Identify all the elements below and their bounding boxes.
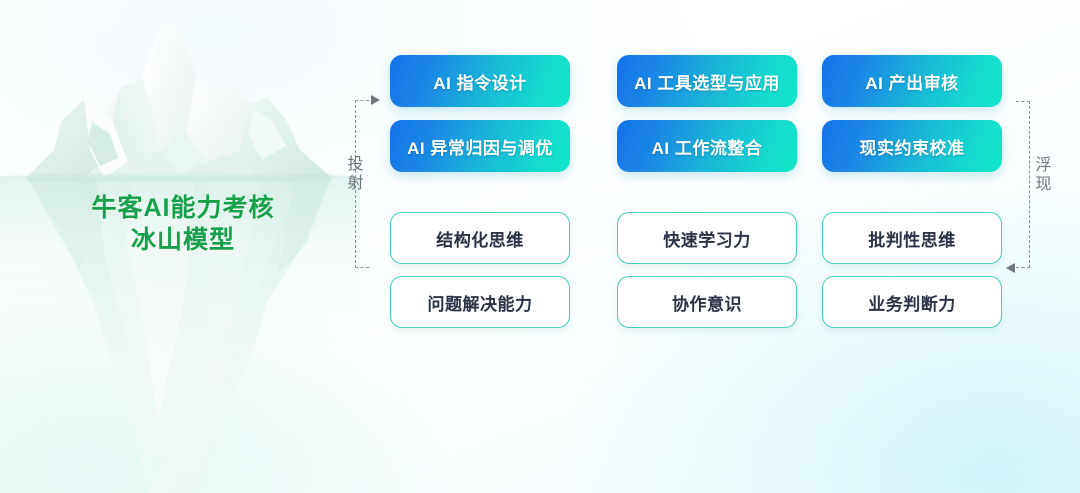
capability-card[interactable]: 问题解决能力 [390, 276, 570, 328]
iceberg-abovewater [26, 16, 332, 182]
capability-card-label: AI 工作流整合 [652, 134, 763, 159]
arrow-left-icon [1006, 263, 1015, 273]
page-title: 牛客AI能力考核 冰山模型 [44, 192, 322, 256]
arrow-right-icon [371, 95, 380, 105]
capability-card-label: 快速学习力 [663, 226, 751, 251]
capability-card-label: 批判性思维 [868, 226, 956, 251]
page-title-line2: 冰山模型 [44, 224, 322, 256]
capability-card[interactable]: 快速学习力 [617, 212, 797, 264]
bracket-right-vline [1029, 101, 1030, 268]
bracket-left-label: 投射 [346, 156, 366, 193]
bracket-right-top-stub [1016, 101, 1030, 102]
capability-card-label: AI 异常归因与调优 [407, 134, 553, 159]
capability-card-label: AI 产出审核 [865, 69, 958, 94]
capability-card[interactable]: 业务判断力 [822, 276, 1002, 328]
capability-card-label: 问题解决能力 [428, 290, 533, 315]
bracket-right-label: 浮现 [1034, 157, 1054, 194]
capability-card[interactable]: 批判性思维 [822, 212, 1002, 264]
capability-card-label: 现实约束校准 [860, 134, 965, 159]
bracket-left-top-stub [355, 100, 369, 101]
capability-card-label: AI 工具选型与应用 [634, 69, 780, 94]
capability-card-label: 结构化思维 [436, 226, 524, 251]
capability-card[interactable]: AI 工作流整合 [617, 120, 797, 172]
bracket-left-bottom-stub [355, 267, 369, 268]
page-title-line1: 牛客AI能力考核 [44, 192, 322, 224]
capability-card[interactable]: AI 异常归因与调优 [390, 120, 570, 172]
capability-card[interactable]: AI 产出审核 [822, 55, 1002, 107]
capability-card-label: 业务判断力 [868, 290, 956, 315]
capability-card[interactable]: AI 工具选型与应用 [617, 55, 797, 107]
slide-canvas: 牛客AI能力考核 冰山模型 投射 浮现 AI 指令设计AI 工具选型与应用AI … [0, 0, 1080, 493]
bracket-right-bottom-stub [1016, 267, 1030, 268]
capability-card-label: 协作意识 [672, 290, 742, 315]
capability-card[interactable]: 现实约束校准 [822, 120, 1002, 172]
capability-card[interactable]: 结构化思维 [390, 212, 570, 264]
capability-card-label: AI 指令设计 [433, 69, 526, 94]
capability-card[interactable]: 协作意识 [617, 276, 797, 328]
capability-card[interactable]: AI 指令设计 [390, 55, 570, 107]
